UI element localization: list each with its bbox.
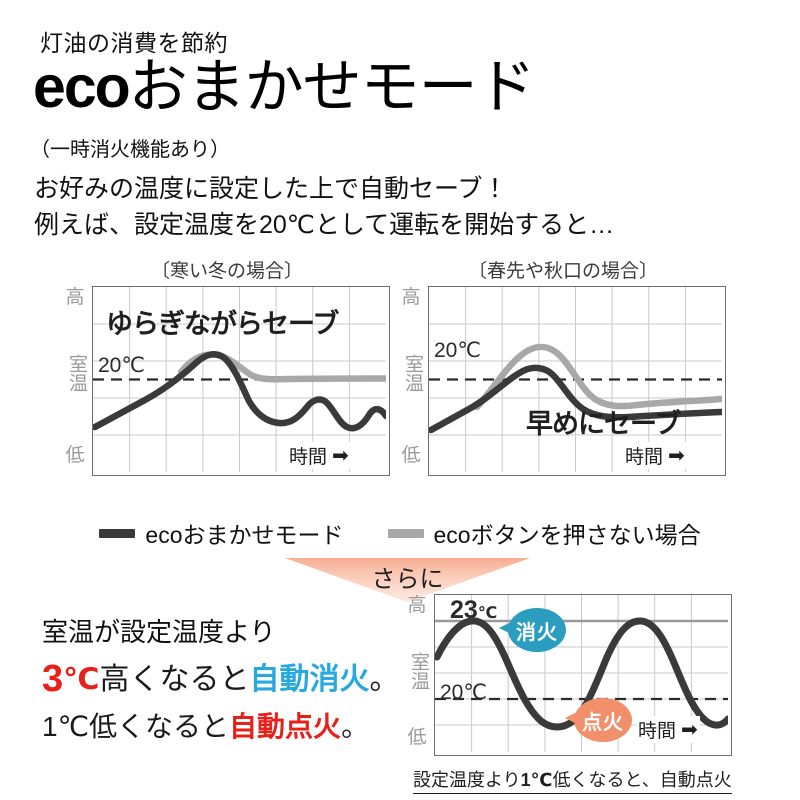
x-axis-text-1: 時間 <box>289 442 327 469</box>
lead-paragraph: お好みの温度に設定した上で自動セーブ！ 例えば、設定温度を20℃として運転を開始… <box>34 172 614 243</box>
chart-legend: ecoおまかせモード ecoボタンを押さない場合 <box>0 516 800 550</box>
bubble-extinguish: 消火 <box>508 608 566 652</box>
legend-swatch-no-eco <box>388 529 424 538</box>
legend-label-no-eco: ecoボタンを押さない場合 <box>434 516 701 550</box>
x-axis-text-3: 時間 <box>638 716 676 743</box>
right-arrow-icon-3: ➡ <box>681 720 698 740</box>
bottom-caption-pre: 設定温度より <box>413 770 521 790</box>
line2-end: 。 <box>369 663 399 696</box>
sarani-label: さらに <box>285 559 530 594</box>
bubble-ignite: 点火 <box>574 698 632 742</box>
peak-number: 23 <box>450 596 478 624</box>
threshold-3deg-number: 3 <box>42 658 63 700</box>
page-title: ecoおまかせモード <box>33 58 535 117</box>
line3-end: 。 <box>341 711 369 742</box>
bottom-caption-post: 低くなると、自動点火 <box>552 770 731 790</box>
right-arrow-icon-1: ➡ <box>332 446 349 466</box>
y-axis-label-high-3: 高 <box>404 596 430 615</box>
bottom-copy-line-3: 1℃低くなると自動点火。 <box>42 705 399 745</box>
y-axis-label-mid-1: 室温 <box>64 354 86 392</box>
auto-ignite-text: 自動点火 <box>229 711 341 742</box>
legend-swatch-eco-mode <box>99 529 135 538</box>
legend-item-eco-mode: ecoおまかせモード <box>99 516 343 550</box>
lead-line-2: 例えば、設定温度を20℃として運転を開始すると… <box>34 208 614 244</box>
y-axis-label-mid-2: 室温 <box>400 354 422 392</box>
chart-auto-ignite-extinguish: 高 室温 低 23℃ 20℃ <box>404 592 734 762</box>
title-eco-word: eco <box>33 54 129 120</box>
auto-extinguish-text: 自動消火 <box>249 663 369 696</box>
bubble-extinguish-tail <box>499 622 511 634</box>
y-axis-label-low-2: 低 <box>398 446 424 465</box>
y-axis-label-low-3: 低 <box>404 728 430 747</box>
title-rest: おまかせモード <box>129 54 535 120</box>
y-axis-label-high-2: 高 <box>398 288 424 307</box>
line2-mid-text: 高くなると <box>99 663 249 696</box>
chart-cold-winter: 〔寒い冬の場合〕 高 室温 低 ゆらぎながらセーブ 20℃ 時間 <box>62 256 392 486</box>
bubble-ignite-tail <box>565 712 577 724</box>
x-axis-label-2: 時間 ➡ <box>623 442 687 469</box>
bubble-extinguish-label: 消火 <box>516 616 558 645</box>
chart-spring-autumn: 〔春先や秋口の場合〕 高 室温 低 早めにセーブ 20℃ 時間 <box>398 256 728 486</box>
bottom-copy-line-2: 3℃高くなると自動消火。 <box>42 654 399 701</box>
peak-unit: ℃ <box>478 605 497 622</box>
threshold-3deg-unit: ℃ <box>63 663 99 696</box>
bottom-left-copy: 室温が設定温度より 3℃高くなると自動消火。 1℃低くなると自動点火。 <box>42 612 399 745</box>
threshold-1deg-number: 1℃ <box>42 711 89 742</box>
legend-item-no-eco: ecoボタンを押さない場合 <box>388 516 701 550</box>
bottom-caption: 設定温度より1℃低くなると、自動点火 <box>413 766 732 794</box>
infographic-page: 灯油の消費を節約 ecoおまかせモード （一時消火機能あり） お好みの温度に設定… <box>0 0 800 800</box>
kicker-text: 灯油の消費を節約 <box>40 24 228 58</box>
threshold-label-20c-2: 20℃ <box>434 338 481 363</box>
x-axis-label-3: 時間 ➡ <box>636 716 700 743</box>
threshold-label-20c-1: 20℃ <box>98 353 145 378</box>
chart-title-spring-autumn: 〔春先や秋口の場合〕 <box>398 256 728 283</box>
y-axis-label-mid-3: 室温 <box>406 652 428 690</box>
x-axis-text-2: 時間 <box>625 442 663 469</box>
legend-label-eco-mode: ecoおまかせモード <box>145 516 343 550</box>
y-axis-label-low-1: 低 <box>62 446 88 465</box>
overlay-label-spring-autumn: 早めにセーブ <box>526 402 680 441</box>
bubble-ignite-label: 点火 <box>582 706 624 735</box>
title-subnote: （一時消火機能あり） <box>30 133 230 162</box>
series-no-eco-1 <box>181 355 386 380</box>
chart-title-cold-winter: 〔寒い冬の場合〕 <box>62 256 392 283</box>
right-arrow-icon-2: ➡ <box>668 446 685 466</box>
lead-line-1: お好みの温度に設定した上で自動セーブ！ <box>34 172 614 208</box>
bottom-caption-strong: 1℃ <box>521 770 553 790</box>
peak-label-23c: 23℃ <box>450 596 497 625</box>
threshold-label-20c-3: 20℃ <box>440 680 487 705</box>
bottom-copy-line-1: 室温が設定温度より <box>42 612 399 649</box>
line3-mid-text: 低くなると <box>89 711 229 742</box>
y-axis-label-high-1: 高 <box>62 288 88 307</box>
x-axis-label-1: 時間 ➡ <box>287 442 351 469</box>
overlay-label-cold-winter: ゆらぎながらセーブ <box>106 302 338 341</box>
